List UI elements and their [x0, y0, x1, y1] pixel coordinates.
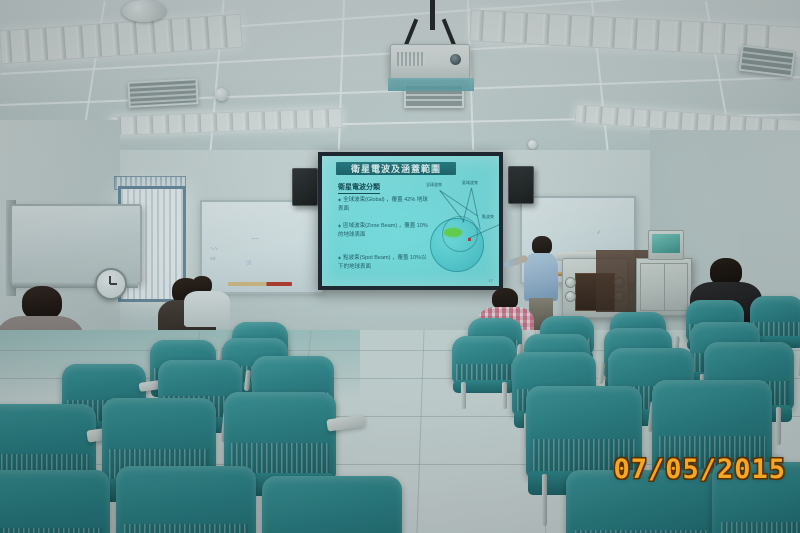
projector-mount-arm: [430, 0, 435, 30]
lecture-chair[interactable]: [452, 336, 516, 384]
slide-title: 衛星電波及涵蓋範圍: [336, 162, 456, 175]
student-white-shirt-left-back: [184, 276, 230, 330]
slide-bullet-spot: 點波束(Spot Beam) ，覆蓋 10%以下的地球表面: [338, 254, 430, 272]
smoke-detector-icon: [215, 88, 228, 101]
projector-lens-icon: [450, 54, 461, 65]
slide-subtitle: 衛星電波分類: [338, 182, 380, 194]
crt-monitor: [648, 230, 684, 260]
student-torso: [184, 291, 230, 327]
slide-spot-beam-footprint: [444, 228, 462, 237]
wall-speaker-left: [292, 168, 318, 206]
ceiling-air-vent: [127, 78, 198, 108]
slide-label-zone: 區域波束: [462, 180, 478, 186]
slide-page-number: 17: [489, 278, 493, 283]
lecture-chair[interactable]: [0, 470, 110, 533]
whiteboard-pen-tray-left: [228, 282, 292, 286]
ceiling-air-vent-right: [739, 45, 796, 77]
ceiling-projector: [390, 44, 470, 80]
camera-date-stamp: 07/05/2015: [613, 454, 786, 485]
presentation-slide: 衛星電波及涵蓋範圍 衛星電波分類 全球波束(Global) ，覆蓋 42% 地球…: [322, 156, 499, 286]
ceiling-light-left: [0, 14, 243, 65]
clock-icon: [95, 268, 127, 300]
projector-light-spill: [388, 78, 474, 91]
lecture-chair[interactable]: [116, 466, 256, 533]
monitor-screen: [652, 234, 680, 253]
projection-screen: 衛星電波及涵蓋範圍 衛星電波分類 全球波束(Global) ，覆蓋 42% 地球…: [318, 152, 503, 290]
ceiling-speaker-dome-icon: [122, 0, 166, 22]
student-head: [22, 286, 62, 320]
cabinet-door-split: [664, 263, 665, 311]
slide-bullet-global: 全球波束(Global) ，覆蓋 42% 地球表面: [338, 196, 430, 214]
ceiling-sensor-icon: [528, 140, 537, 149]
slide-label-global: 全球波束: [426, 182, 442, 188]
equipment-cabinet: [636, 258, 692, 316]
slide-bullet-zone: 區域波束(Zone Beam) ，覆蓋 10%的地球表面: [338, 222, 430, 240]
slide-label-spot: 點波束: [482, 214, 494, 220]
ceiling-light-lower-center: [110, 108, 343, 136]
wall-speaker-right: [508, 166, 534, 204]
lecture-chair[interactable]: [262, 476, 402, 533]
lecture-hall-photo: ∿∿ ≡≡ ⌐¬ ▯▯ ∕∕ · 衛星電波及涵蓋範圍 衛星電波分類 全球波束(G…: [0, 0, 800, 533]
